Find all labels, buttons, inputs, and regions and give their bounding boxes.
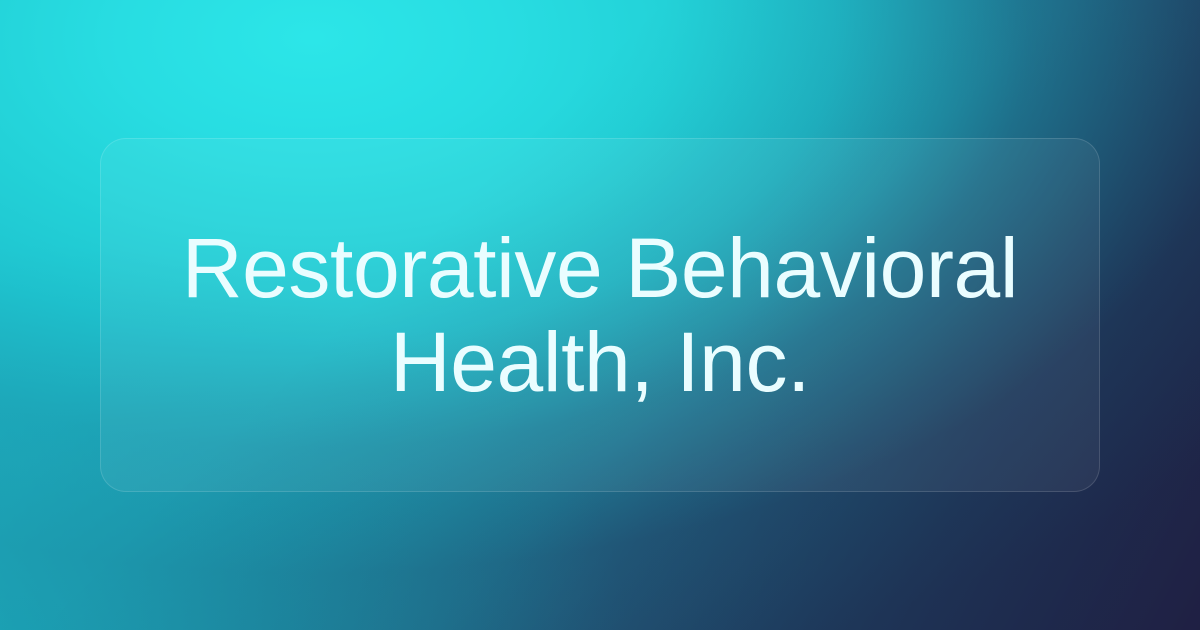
page-title: Restorative Behavioral Health, Inc. xyxy=(101,221,1099,409)
og-image-canvas: Restorative Behavioral Health, Inc. xyxy=(0,0,1200,630)
title-card-panel: Restorative Behavioral Health, Inc. xyxy=(100,138,1100,492)
